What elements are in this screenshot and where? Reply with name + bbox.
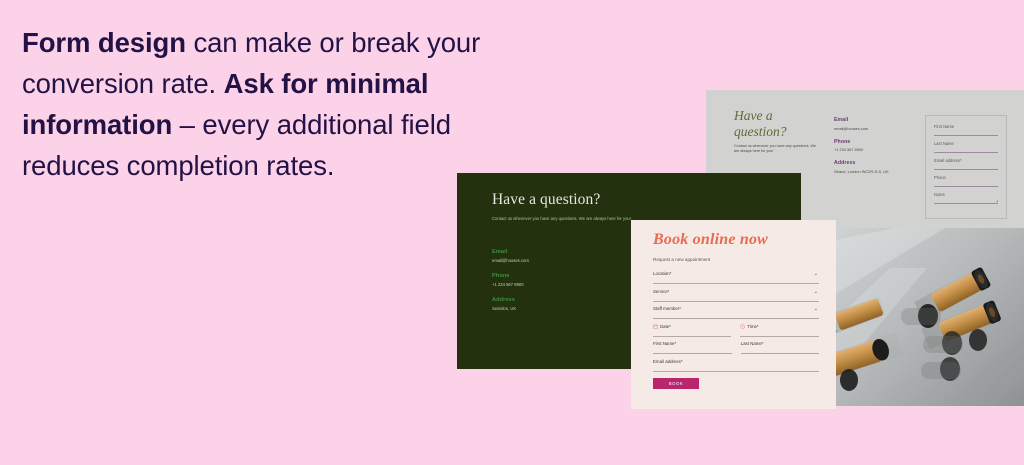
grey-card-heading: Have a question?: [734, 108, 816, 140]
dark-card-subtitle: Contact us whenever you have any questio…: [492, 216, 640, 223]
input-underline: [653, 318, 819, 319]
input-underline: [934, 135, 998, 136]
grey-field-notes[interactable]: Notes: [934, 192, 998, 209]
grey-field-first-name[interactable]: First Name: [934, 124, 998, 141]
booking-label-location: Location*: [653, 271, 671, 276]
grey-field-label-email: Email address*: [934, 158, 998, 163]
grey-contact-value-phone[interactable]: +1 234 567 8900: [834, 147, 908, 152]
booking-field-time[interactable]: Time*: [740, 324, 819, 342]
grey-card-form: First Name Last Name Email address* Phon…: [925, 115, 1007, 219]
headline-bold-1: Form design: [22, 27, 186, 58]
input-underline: [741, 353, 819, 354]
input-underline: [934, 169, 998, 170]
booking-form-subtitle: Request a new appointment: [653, 257, 819, 262]
booking-label-date: Date*: [660, 324, 671, 329]
grey-field-label-phone: Phone: [934, 175, 998, 180]
booking-field-service[interactable]: Service* ⌄: [653, 289, 819, 307]
input-underline: [653, 371, 819, 372]
chevron-down-icon[interactable]: ⌄: [814, 290, 818, 295]
grey-card-subtitle: Contact us whenever you have any questio…: [734, 144, 820, 155]
product-photo: [835, 228, 1024, 406]
grey-contact-value-address: Strand, London WC2R 2LS, UK: [834, 169, 908, 174]
booking-label-staff-member: Staff member*: [653, 306, 681, 311]
booking-row-location: Location* ⌄: [653, 271, 819, 289]
clock-icon: [740, 324, 745, 329]
booking-form-heading: Book online now: [653, 231, 819, 249]
grey-field-phone[interactable]: Phone: [934, 175, 998, 192]
booking-form-content: Book online now Request a new appointmen…: [631, 220, 836, 389]
booking-field-date[interactable]: Date*: [653, 324, 731, 342]
grey-contact-value-email[interactable]: email@houses.com: [834, 126, 908, 131]
grey-field-email[interactable]: Email address*: [934, 158, 998, 175]
booking-field-staff-member[interactable]: Staff member* ⌄: [653, 306, 819, 324]
chevron-down-icon[interactable]: ⌄: [814, 307, 818, 312]
input-underline: [934, 152, 998, 153]
booking-row-staff: Staff member* ⌄: [653, 306, 819, 324]
grey-card-contact-list: Email email@houses.com Phone +1 234 567 …: [834, 117, 908, 182]
booking-label-last-name: Last Name*: [741, 341, 764, 346]
grey-field-last-name[interactable]: Last Name: [934, 141, 998, 158]
booking-row-name: First Name* Last Name*: [653, 341, 819, 359]
input-underline: [934, 186, 998, 187]
booking-label-first-name: First Name*: [653, 341, 676, 346]
booking-label-time: Time*: [747, 324, 758, 329]
product-photo-graphic: [835, 228, 1024, 406]
input-underline: [934, 203, 998, 204]
chevron-down-icon[interactable]: ⌄: [814, 272, 818, 277]
dark-card-heading: Have a question?: [492, 191, 801, 209]
slide-canvas: Form design can make or break your conve…: [0, 0, 1024, 465]
grey-field-label-first-name: First Name: [934, 124, 998, 129]
grey-contact-label-address: Address: [834, 160, 908, 166]
booking-field-last-name[interactable]: Last Name*: [741, 341, 819, 359]
grey-contact-label-phone: Phone: [834, 139, 908, 145]
input-underline: [653, 301, 819, 302]
resize-handle-icon[interactable]: [996, 200, 998, 202]
booking-label-service: Service*: [653, 289, 669, 294]
booking-row-service: Service* ⌄: [653, 289, 819, 307]
booking-form-fields: Location* ⌄ Service* ⌄ Staff member*: [653, 271, 819, 389]
calendar-icon: [653, 324, 658, 329]
booking-label-email: Email address*: [653, 359, 683, 364]
input-underline: [653, 283, 819, 284]
page-title: Form design can make or break your conve…: [22, 22, 492, 186]
booking-field-first-name[interactable]: First Name*: [653, 341, 732, 359]
grey-field-label-last-name: Last Name: [934, 141, 998, 146]
book-button[interactable]: BOOK: [653, 378, 699, 389]
input-underline: [653, 336, 731, 337]
booking-field-email[interactable]: Email address*: [653, 359, 819, 377]
booking-row-email: Email address*: [653, 359, 819, 377]
grey-field-label-notes: Notes: [934, 192, 998, 197]
booking-row-date-time: Date* Time*: [653, 324, 819, 342]
grey-contact-label-email: Email: [834, 117, 908, 123]
booking-form-card: Book online now Request a new appointmen…: [631, 220, 836, 409]
input-underline: [740, 336, 819, 337]
input-underline: [653, 353, 732, 354]
booking-field-location[interactable]: Location* ⌄: [653, 271, 819, 289]
